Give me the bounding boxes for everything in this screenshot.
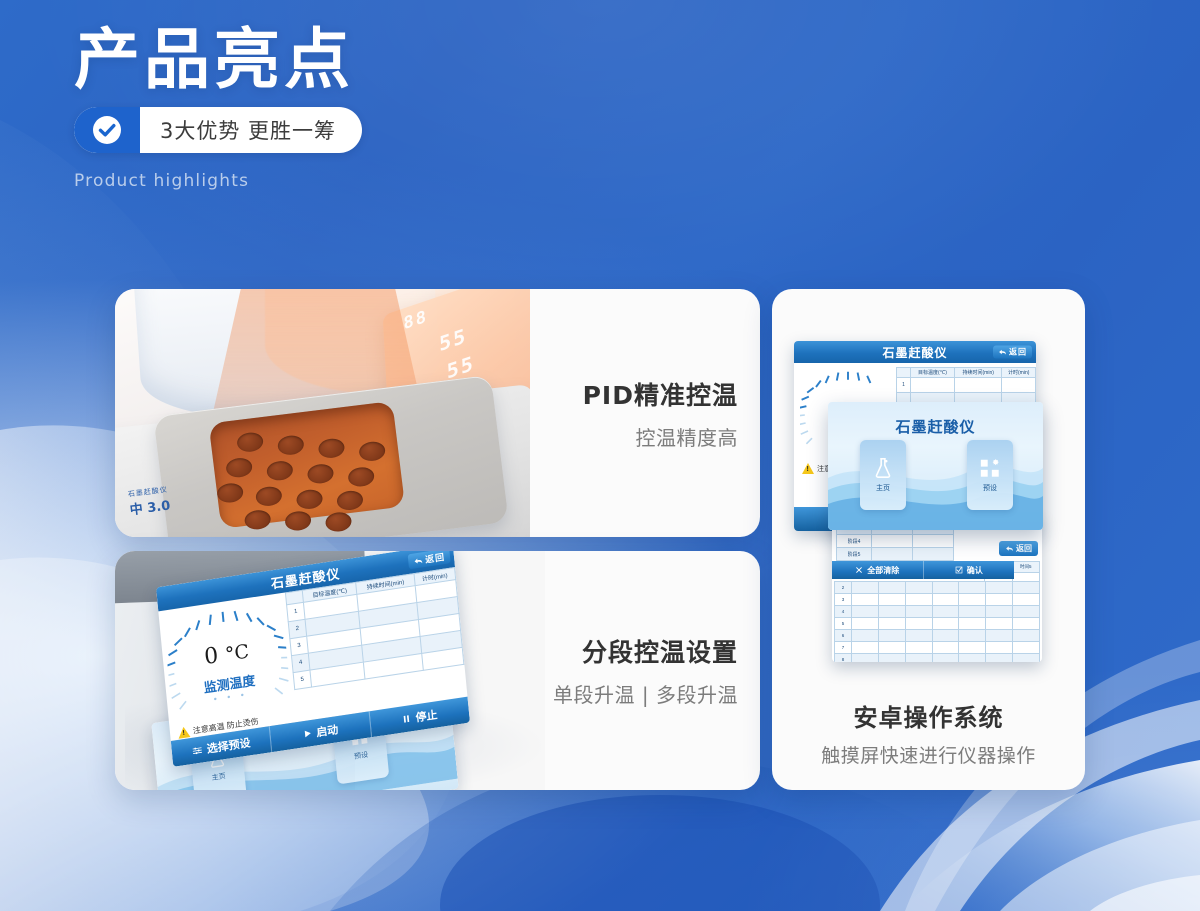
- check-box-icon: [955, 566, 963, 574]
- device-brand-logo: 石墨赶酸仪 中 3.0: [127, 485, 171, 519]
- confirm-button[interactable]: 确认: [924, 561, 1015, 579]
- preset-grid-table[interactable]: 2 3 4 5 6 7 8: [834, 581, 1040, 662]
- device-screens-stack: 石墨赶酸仪 返回: [772, 289, 1085, 699]
- highlight-card-android[interactable]: 石墨赶酸仪 返回: [772, 289, 1085, 790]
- stage-label: 阶段4: [837, 535, 872, 548]
- home-button-preset-label: 预设: [354, 750, 369, 762]
- row-index: 4: [835, 606, 852, 618]
- play-icon: [302, 728, 313, 739]
- highlight-card-segment[interactable]: 主页 预设 石墨赶酸仪: [115, 551, 760, 790]
- home-screen-title: 石墨赶酸仪: [828, 416, 1043, 437]
- th-duration: 持续时间(min): [955, 368, 1002, 378]
- card-text-block: PID精准控温 控温精度高: [530, 289, 760, 537]
- heating-block-well-area: [209, 401, 406, 529]
- check-circle-icon: [74, 107, 140, 153]
- card-text-block: 分段控温设置 单段升温 | 多段升温: [545, 551, 760, 790]
- page-title: 产品亮点: [74, 26, 774, 93]
- device-preset-table-screen[interactable]: 阶段4 阶段5 返回 温度5 时间5: [832, 517, 1042, 662]
- table-row: 4: [835, 606, 1040, 618]
- back-button-label: 返回: [1009, 347, 1027, 358]
- row-index: 3: [835, 594, 852, 606]
- warning-triangle-icon: [802, 463, 814, 474]
- card-title: 安卓操作系统: [854, 698, 1004, 733]
- clear-all-button[interactable]: 全部清除: [832, 561, 924, 579]
- back-arrow-icon: [998, 348, 1007, 357]
- confirm-label: 确认: [967, 565, 983, 576]
- card-subtitle: 控温精度高: [636, 422, 739, 451]
- table-row: 8: [835, 654, 1040, 663]
- table-row: 阶段5: [837, 548, 954, 561]
- th-target-temp: 目标温度(℃): [911, 368, 955, 378]
- page-header: 产品亮点 3大优势 更胜一筹 Product highlights: [74, 26, 774, 191]
- card-title: 分段控温设置: [582, 633, 738, 669]
- grid-apps-icon: [979, 457, 1001, 479]
- table-header-row: 目标温度(℃) 持续时间(min) 计时(min): [897, 368, 1036, 378]
- back-button[interactable]: 返回: [999, 541, 1038, 556]
- row-index: 6: [835, 630, 852, 642]
- row-index: 2: [835, 582, 852, 594]
- th-timer: 计时(min): [1002, 368, 1036, 378]
- table-row: 5: [835, 618, 1040, 630]
- th-time: 时间5: [1012, 562, 1040, 573]
- device-screen-photo: 主页 预设 石墨赶酸仪: [115, 551, 545, 790]
- card-subtitle: 单段升温 | 多段升温: [553, 679, 738, 708]
- select-preset-label: 选择预设: [206, 734, 251, 756]
- table-row: 1: [897, 378, 1036, 393]
- card-text-block: 安卓操作系统 触摸屏快速进行仪器操作: [772, 676, 1085, 790]
- back-arrow-icon: [1005, 544, 1014, 553]
- row-index: 5: [293, 670, 311, 689]
- home-button-main-label: 主页: [876, 483, 890, 493]
- warning-triangle-icon: [178, 726, 191, 739]
- row-index: 5: [835, 618, 852, 630]
- back-button[interactable]: 返回: [993, 346, 1032, 359]
- table-row: 2: [835, 582, 1040, 594]
- row-index: 7: [835, 642, 852, 654]
- stop-label: 停止: [415, 706, 438, 725]
- display-reading-1: 88: [403, 306, 428, 334]
- table-row: 3: [835, 594, 1040, 606]
- row-index: 1: [897, 378, 911, 393]
- back-button[interactable]: 返回: [408, 551, 451, 569]
- device-home-screen[interactable]: 石墨赶酸仪 主页 预设: [828, 402, 1043, 530]
- display-reading-2: 55: [439, 323, 468, 356]
- back-button-label: 返回: [425, 551, 446, 566]
- highlight-card-pid[interactable]: 88 55 55: [115, 289, 760, 537]
- back-arrow-icon: [413, 555, 424, 566]
- pause-icon: [401, 713, 412, 724]
- highlights-badge: 3大优势 更胜一筹: [74, 107, 362, 153]
- screen-title-bar: 石墨赶酸仪 返回: [794, 341, 1036, 363]
- gauge-unit: °C: [224, 640, 250, 665]
- flask-icon: [872, 457, 894, 479]
- close-x-icon: [855, 566, 863, 574]
- preset-action-bar: 全部清除 确认: [832, 561, 1014, 579]
- back-button-label: 返回: [1016, 543, 1032, 554]
- th-index: [897, 368, 911, 378]
- temperature-gauge: 0 °C 监测温度 • • •: [163, 597, 292, 724]
- card-subtitle: 触摸屏快速进行仪器操作: [821, 741, 1036, 768]
- page-subtitle: Product highlights: [74, 171, 774, 191]
- start-label: 启动: [316, 721, 339, 740]
- table-row: 阶段4: [837, 535, 954, 548]
- home-button-preset-label: 预设: [983, 483, 997, 493]
- stage-label: 阶段5: [837, 548, 872, 561]
- home-button-main-label: 主页: [211, 771, 226, 783]
- card-title: PID精准控温: [583, 376, 738, 412]
- product-photo: 88 55 55: [115, 289, 530, 537]
- row-index: 8: [835, 654, 852, 663]
- screen-title: 石墨赶酸仪: [882, 344, 947, 361]
- sliders-icon: [191, 744, 203, 757]
- table-row: 6: [835, 630, 1040, 642]
- home-button-main[interactable]: 主页: [860, 440, 906, 510]
- clear-all-label: 全部清除: [867, 565, 899, 576]
- badge-label: 3大优势 更胜一筹: [140, 107, 362, 153]
- table-row: 7: [835, 642, 1040, 654]
- home-button-preset[interactable]: 预设: [967, 440, 1013, 510]
